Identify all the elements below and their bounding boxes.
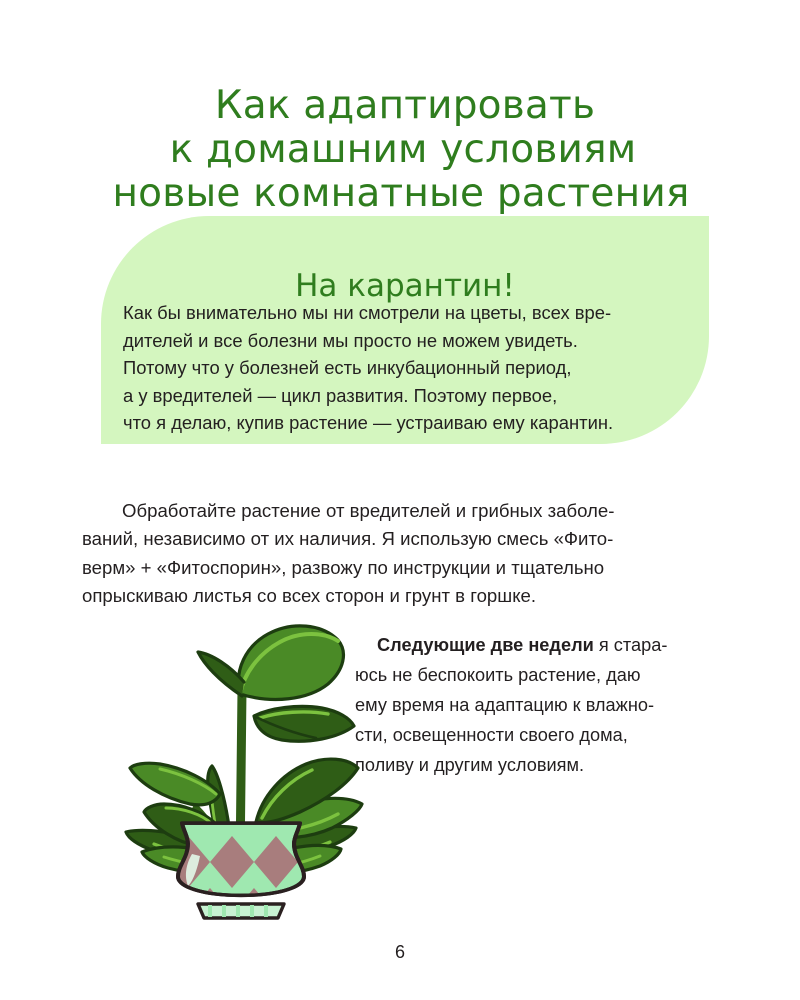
secondary-paragraph-line-1-rest: я стара- [594, 635, 668, 655]
main-paragraph-line-1: Обработайте растение от вредителей и гри… [82, 497, 718, 526]
callout-body-line-4: а у вредителей — цикл развития. Поэтому … [123, 382, 689, 410]
secondary-paragraph: Следующие две недели я стара- юсь не бес… [355, 630, 655, 780]
main-paragraph-line-3: верм» + «Фитоспорин», развожу по инструк… [82, 554, 718, 583]
secondary-paragraph-line-2: юсь не беспокоить растение, даю [355, 660, 655, 690]
page-canvas: Как адаптировать к домашним условиям нов… [0, 0, 800, 1000]
callout-body-line-1: Как бы внимательно мы ни смотрели на цве… [123, 299, 689, 327]
secondary-paragraph-line-5: поливу и другим условиям. [355, 750, 655, 780]
main-paragraph: Обработайте растение от вредителей и гри… [82, 497, 718, 611]
secondary-paragraph-line-1: Следующие две недели я стара- [355, 630, 655, 660]
houseplant-icon [112, 608, 380, 938]
secondary-paragraph-line-4: сти, освещенности своего дома, [355, 720, 655, 750]
page-title-line-1: Как адаптировать [0, 84, 800, 128]
callout-body-line-3: Потому что у болезней есть инкубационный… [123, 354, 689, 382]
houseplant-illustration [112, 608, 380, 938]
secondary-paragraph-lead: Следующие две недели [377, 635, 594, 655]
callout-body-line-5: что я делаю, купив растение — устраиваю … [123, 409, 689, 437]
page-title-line-3: новые комнатные растения [0, 172, 800, 216]
page-title: Как адаптировать к домашним условиям нов… [0, 84, 800, 216]
main-paragraph-line-2: ваний, независимо от их наличия. Я испол… [82, 525, 718, 554]
page-number: 6 [0, 942, 800, 963]
quarantine-callout-box: На карантин! Как бы внимательно мы ни см… [101, 216, 709, 444]
page-title-line-2: к домашним условиям [0, 128, 800, 172]
callout-body: Как бы внимательно мы ни смотрели на цве… [123, 299, 689, 437]
main-paragraph-line-4: опрыскиваю листья со всех сторон и грунт… [82, 582, 718, 611]
callout-body-line-2: дителей и все болезни мы просто не можем… [123, 327, 689, 355]
secondary-paragraph-line-3: ему время на адаптацию к влажно- [355, 690, 655, 720]
